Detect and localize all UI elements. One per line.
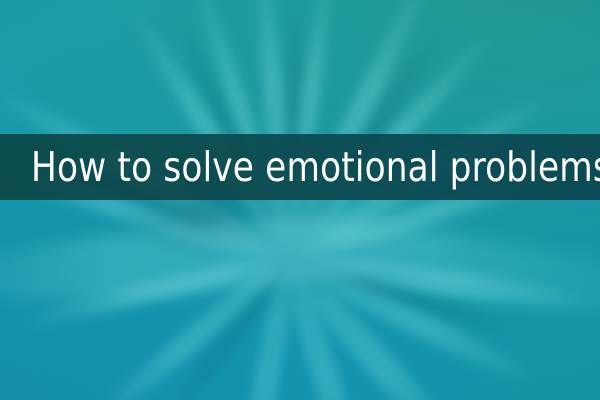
plant-background-photo (0, 0, 600, 400)
vignette-overlay (0, 0, 600, 400)
page-title: How to solve emotional problems (31, 147, 600, 188)
article-header-image: How to solve emotional problems (0, 0, 600, 400)
title-banner: How to solve emotional problems (0, 134, 600, 200)
